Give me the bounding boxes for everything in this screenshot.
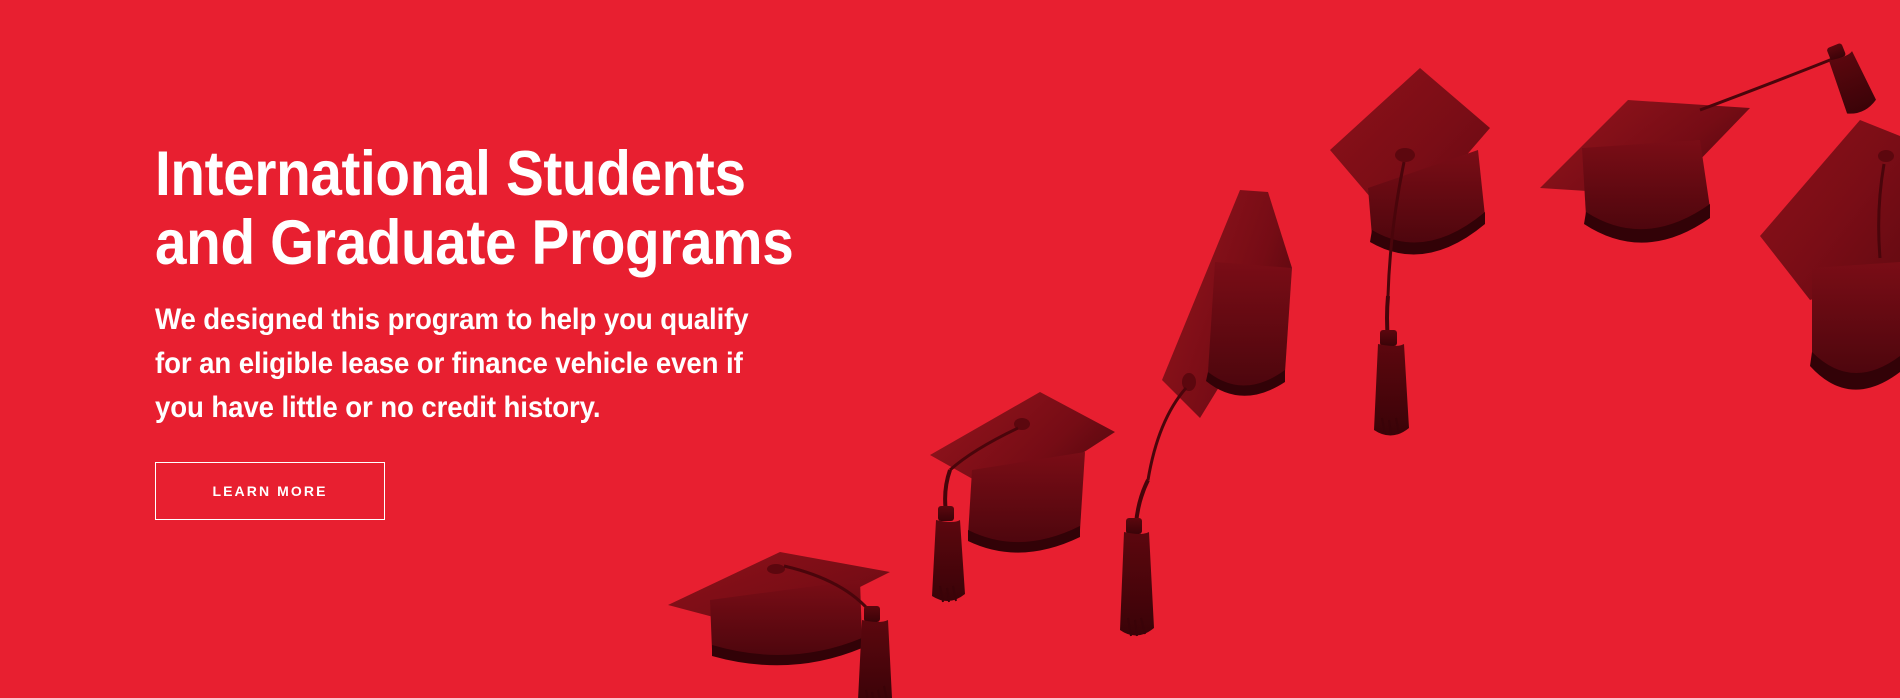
graduation-cap-1 (668, 552, 892, 698)
learn-more-button[interactable]: Learn More (155, 462, 385, 520)
hero-subtitle: We designed this program to help you qua… (155, 298, 817, 430)
tassel-1 (858, 606, 892, 698)
page-title: International Students and Graduate Prog… (155, 140, 803, 278)
hero-banner: International Students and Graduate Prog… (0, 0, 1900, 698)
graduation-cap-5 (1540, 39, 1878, 243)
tassel-5 (1822, 39, 1878, 117)
tassel-2 (932, 506, 965, 602)
hero-copy-block: International Students and Graduate Prog… (155, 140, 875, 520)
tassel-4 (1374, 330, 1409, 436)
graduation-cap-6 (1760, 120, 1900, 390)
tassel-3 (1120, 518, 1154, 636)
graduation-cap-2 (930, 392, 1115, 602)
graduation-cap-4 (1330, 68, 1490, 436)
graduation-cap-3 (1120, 190, 1292, 636)
